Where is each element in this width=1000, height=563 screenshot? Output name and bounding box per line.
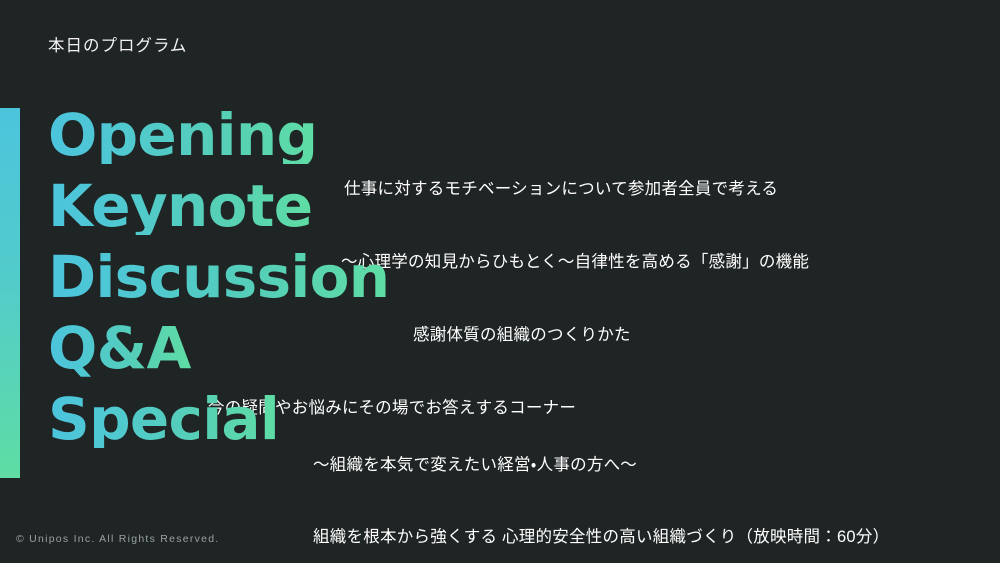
program-desc-line: 組織を根本から強くする 心理的安全性の高い組織づくり（放映時間：60分） xyxy=(313,526,889,550)
program-row-opening: Opening 仕事に対するモチベーションについて参加者全員で考える xyxy=(0,96,1000,167)
program-list: Opening 仕事に対するモチベーションについて参加者全員で考える Keyno… xyxy=(0,96,1000,460)
program-heading-keynote: Keynote xyxy=(48,177,312,235)
program-row-special: Special 〜組織を本気で変えたい経営・人事の方へ〜 組織を根本から強くする… xyxy=(0,380,1000,460)
program-desc-line: 〜組織を本気で変えたい経営・人事の方へ〜 xyxy=(313,454,889,478)
program-desc-special: 〜組織を本気で変えたい経営・人事の方へ〜 組織を根本から強くする 心理的安全性の… xyxy=(313,406,889,563)
program-heading-qa: Q&A xyxy=(48,319,191,377)
footer-copyright: © Unipos Inc. All Rights Reserved. xyxy=(16,533,219,545)
program-heading-opening: Opening xyxy=(48,106,317,164)
program-heading-special: Special xyxy=(48,390,279,448)
program-row-keynote: Keynote 〜心理学の知見からひもとく〜自律性を高める「感謝」の機能 xyxy=(0,167,1000,238)
program-row-discussion: Discussion 感謝体質の組織のつくりかた xyxy=(0,238,1000,309)
program-slide: 本日のプログラム Opening 仕事に対するモチベーションについて参加者全員で… xyxy=(0,0,1000,563)
page-title: 本日のプログラム xyxy=(48,36,187,57)
program-row-qa: Q&A 今の疑問やお悩みにその場でお答えするコーナー xyxy=(0,309,1000,380)
program-heading-discussion: Discussion xyxy=(48,248,389,306)
